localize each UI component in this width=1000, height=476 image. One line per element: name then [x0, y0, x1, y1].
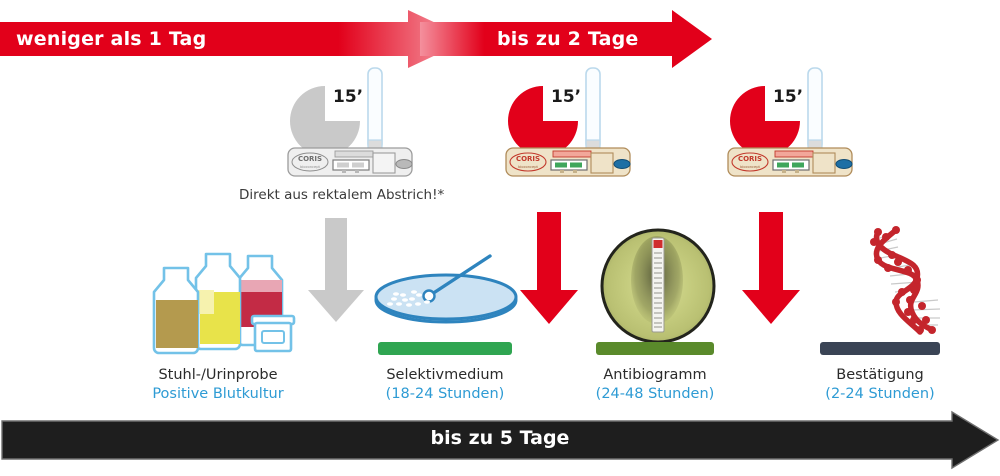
step-bar-antibiogram — [596, 342, 714, 355]
bottom-arrow-label: bis zu 5 Tage — [0, 427, 1000, 449]
down-arrow-grey — [306, 218, 366, 326]
caption-line1: Bestätigung — [770, 366, 990, 385]
direct-swab-note: Direkt aus rektalem Abstrich!* — [239, 187, 444, 203]
timer-label-3: 15’ — [773, 87, 803, 107]
top-arrow-label-right: bis zu 2 Tage — [497, 28, 639, 50]
svg-text:bioconcept: bioconcept — [740, 165, 760, 169]
step-bar-confirmation — [820, 342, 940, 355]
rapid-test-cassette-icon-3: CORIS bioconcept — [728, 148, 852, 176]
timer-label-2: 15’ — [551, 87, 581, 107]
svg-text:bioconcept: bioconcept — [300, 165, 320, 169]
svg-text:bioconcept: bioconcept — [518, 165, 538, 169]
rapid-test-group-2: CORIS bioconcept 15’ — [503, 78, 643, 188]
petri-dish-icon — [368, 252, 528, 327]
dna-helix-icon — [862, 228, 962, 338]
agar-plate-etest-icon — [600, 228, 716, 344]
rapid-test-group-3: CORIS bioconcept 15’ — [725, 78, 865, 188]
caption-line2: (24-48 Stunden) — [545, 385, 765, 404]
caption-step-selective-medium: Selektivmedium (18-24 Stunden) — [335, 366, 555, 403]
down-arrow-red-2 — [740, 212, 802, 328]
caption-line1: Stuhl-/Urinprobe — [108, 366, 328, 385]
caption-line1: Selektivmedium — [335, 366, 555, 385]
caption-step-sample: Stuhl-/Urinprobe Positive Blutkultur — [108, 366, 328, 403]
caption-step-antibiogram: Antibiogramm (24-48 Stunden) — [545, 366, 765, 403]
step-bar-selective-medium — [378, 342, 512, 355]
caption-line2: (18-24 Stunden) — [335, 385, 555, 404]
caption-line2: Positive Blutkultur — [108, 385, 328, 404]
timer-label-1: 15’ — [333, 87, 363, 107]
rapid-test-cassette-icon-2: CORIS bioconcept — [506, 148, 630, 176]
top-arrow-label-left: weniger als 1 Tag — [16, 28, 206, 50]
caption-line2: (2-24 Stunden) — [770, 385, 990, 404]
workflow-diagram: weniger als 1 Tag bis zu 2 Tage CORIS bi… — [0, 0, 1000, 476]
svg-text:CORIS: CORIS — [298, 155, 322, 163]
rapid-test-cassette-icon-1: CORIS bioconcept — [288, 148, 412, 176]
caption-line1: Antibiogramm — [545, 366, 765, 385]
svg-text:CORIS: CORIS — [516, 155, 540, 163]
svg-text:CORIS: CORIS — [738, 155, 762, 163]
specimen-bottles-icon — [144, 252, 304, 357]
rapid-test-group-1: CORIS bioconcept 15’ — [285, 78, 425, 188]
caption-step-confirmation: Bestätigung (2-24 Stunden) — [770, 366, 990, 403]
